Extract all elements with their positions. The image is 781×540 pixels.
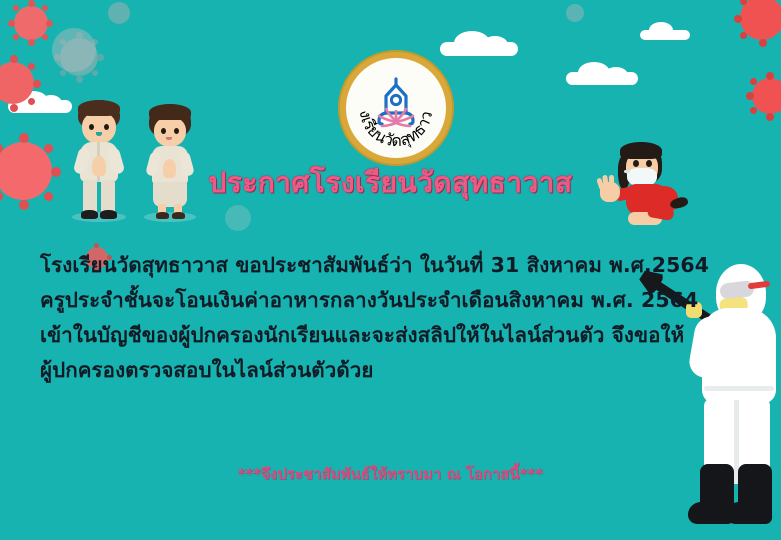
body-line: ผู้ปกครองตรวจสอบในไลน์ส่วนตัวด้วย	[40, 353, 740, 388]
cloud-icon	[566, 72, 638, 85]
announcement-poster: โรงเรียนวัดสุทธาวาส	[0, 0, 781, 540]
virus-particle-icon	[740, 0, 781, 40]
logo-curved-text: โรงเรียนวัดสุทธาวาส	[346, 58, 436, 151]
announcement-body: โรงเรียนวัดสุทธาวาส ขอประชาสัมพันธ์ว่า ใ…	[40, 248, 740, 388]
body-line: โรงเรียนวัดสุทธาวาส ขอประชาสัมพันธ์ว่า ใ…	[40, 248, 740, 283]
body-line: ครูประจำชั้นจะโอนเงินค่าอาหารกลางวันประจ…	[40, 283, 740, 318]
person-boy-wai-illustration	[68, 100, 130, 222]
virus-particle-icon	[108, 2, 130, 24]
virus-particle-icon	[52, 28, 96, 72]
body-line: เข้าในบัญชีของผู้ปกครองนักเรียนและจะส่งส…	[40, 318, 740, 353]
virus-particle-icon	[566, 4, 584, 22]
person-girl-wai-illustration	[140, 104, 200, 222]
virus-particle-icon	[14, 6, 48, 40]
cloud-icon	[640, 30, 690, 40]
cloud-icon	[440, 42, 518, 56]
virus-particle-icon	[0, 62, 34, 104]
page-title: ประกาศโรงเรียนวัดสุทธาวาส	[0, 168, 781, 199]
virus-particle-icon	[752, 78, 781, 114]
virus-particle-icon	[225, 205, 251, 231]
temple-emblem-icon: โรงเรียนวัดสุทธาวาส	[346, 58, 446, 158]
footer-note: ***จึงประชาสัมพันธ์ให้ทราบมา ณ โอกาสนี้*…	[0, 462, 781, 486]
school-logo: โรงเรียนวัดสุทธาวาส	[340, 52, 452, 164]
